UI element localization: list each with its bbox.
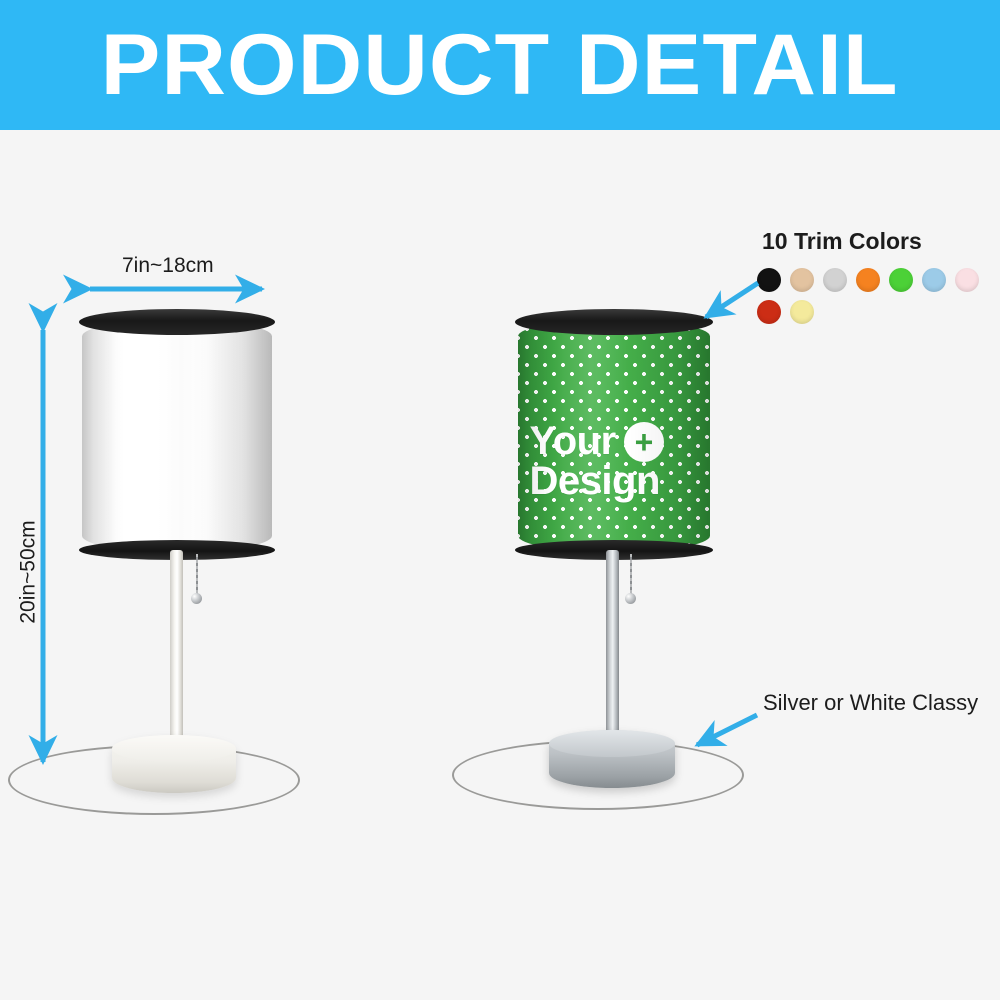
trim-swatch-pink[interactable] — [955, 268, 979, 292]
trim-swatch-blue[interactable] — [922, 268, 946, 292]
height-dimension-label: 20in~50cm — [17, 520, 41, 623]
trim-swatch-orange[interactable] — [856, 268, 880, 292]
trim-colors-label: 10 Trim Colors — [762, 228, 922, 255]
white-shade-trim-top — [79, 309, 275, 335]
width-dimension-label: 7in~18cm — [122, 254, 214, 278]
trim-swatch-green[interactable] — [889, 268, 913, 292]
white-shade-surface — [82, 320, 272, 552]
green-lamp-base — [549, 730, 675, 788]
green-lamp-pole — [606, 550, 619, 756]
green-lamp-shade: Your + Design — [518, 320, 710, 552]
trim-color-swatch-list — [757, 268, 1000, 324]
white-lamp-base-top — [112, 735, 236, 762]
design-line-2: Design — [530, 462, 699, 501]
white-lamp-shade — [82, 320, 272, 552]
green-shade-surface: Your + Design — [518, 320, 710, 552]
white-lamp-pull-chain — [196, 554, 198, 596]
green-lamp-base-top — [549, 730, 675, 757]
base-finish-label: Silver or White Classy — [763, 690, 978, 716]
your-design-artwork: Your + Design — [530, 422, 699, 501]
plus-badge-icon: + — [624, 422, 664, 462]
green-lamp-chain-knob — [625, 593, 636, 604]
header-banner: PRODUCT DETAIL — [0, 0, 1000, 130]
trim-swatch-red[interactable] — [757, 300, 781, 324]
trim-swatch-gray[interactable] — [823, 268, 847, 292]
trim-swatch-tan[interactable] — [790, 268, 814, 292]
white-lamp-chain-knob — [191, 593, 202, 604]
green-shade-trim-top — [515, 309, 713, 335]
design-line-1-row: Your + — [530, 422, 699, 462]
page-title: PRODUCT DETAIL — [101, 22, 899, 108]
design-line-1: Your — [530, 422, 616, 461]
green-lamp-pull-chain — [630, 554, 632, 596]
white-lamp-pole — [170, 550, 183, 762]
trim-swatch-black[interactable] — [757, 268, 781, 292]
white-lamp-base — [112, 735, 236, 793]
trim-swatch-yellow[interactable] — [790, 300, 814, 324]
